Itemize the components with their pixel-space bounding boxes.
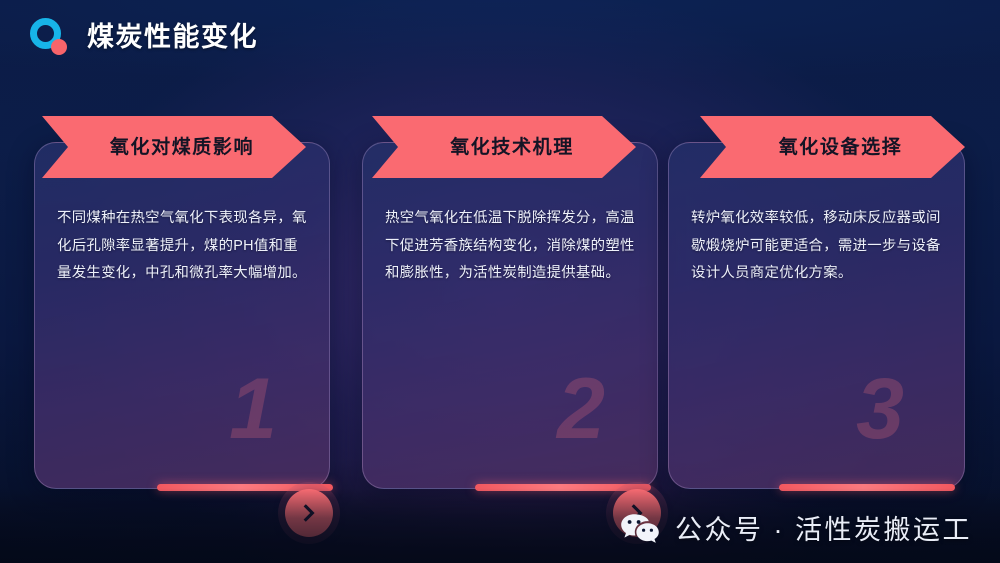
card-body-text: 热空气氧化在低温下脱除挥发分，高温下促进芳香族结构变化，消除煤的塑性和膨胀性，为…: [385, 205, 637, 288]
card-title-ribbon: 氧化技术机理: [372, 116, 636, 178]
logo-dot-shape: [51, 39, 67, 55]
card-title-ribbon: 氧化对煤质影响: [42, 116, 306, 178]
card-title: 氧化设备选择: [763, 138, 903, 157]
card-title-ribbon: 氧化设备选择: [700, 116, 965, 178]
card-number-watermark: 1: [229, 366, 277, 452]
slide-footer: 公众号 · 活性炭搬运工: [0, 488, 1000, 563]
card-title: 氧化技术机理: [434, 138, 574, 157]
wechat-account-block: 公众号 · 活性炭搬运工: [620, 513, 972, 547]
slide-root: 煤炭性能变化 1 不同煤种在热空气氧化下表现各异，氧化后孔隙率显著提升，煤的PH…: [0, 0, 1000, 563]
page-title: 煤炭性能变化: [87, 24, 258, 51]
content-card: 2 热空气氧化在低温下脱除挥发分，高温下促进芳香族结构变化，消除煤的塑性和膨胀性…: [362, 142, 658, 489]
cards-row: 1 不同煤种在热空气氧化下表现各异，氧化后孔隙率显著提升，煤的PH值和重量发生变…: [0, 116, 1000, 488]
card-body-text: 转炉氧化效率较低，移动床反应器或间歇煅烧炉可能更适合，需进一步与设备设计人员商定…: [691, 205, 944, 288]
card-number-watermark: 2: [557, 366, 605, 452]
card-title: 氧化对煤质影响: [94, 138, 254, 157]
content-card: 1 不同煤种在热空气氧化下表现各异，氧化后孔隙率显著提升，煤的PH值和重量发生变…: [34, 142, 330, 489]
card-body-text: 不同煤种在热空气氧化下表现各异，氧化后孔隙率显著提升，煤的PH值和重量发生变化，…: [57, 205, 309, 288]
wechat-account-text: 公众号 · 活性炭搬运工: [675, 517, 972, 544]
card-number-watermark: 3: [856, 366, 904, 452]
ring-dot-logo-icon: [28, 16, 70, 58]
slide-header: 煤炭性能变化: [28, 16, 258, 58]
wechat-icon: [620, 513, 660, 547]
content-card: 3 转炉氧化效率较低，移动床反应器或间歇煅烧炉可能更适合，需进一步与设备设计人员…: [668, 142, 965, 489]
